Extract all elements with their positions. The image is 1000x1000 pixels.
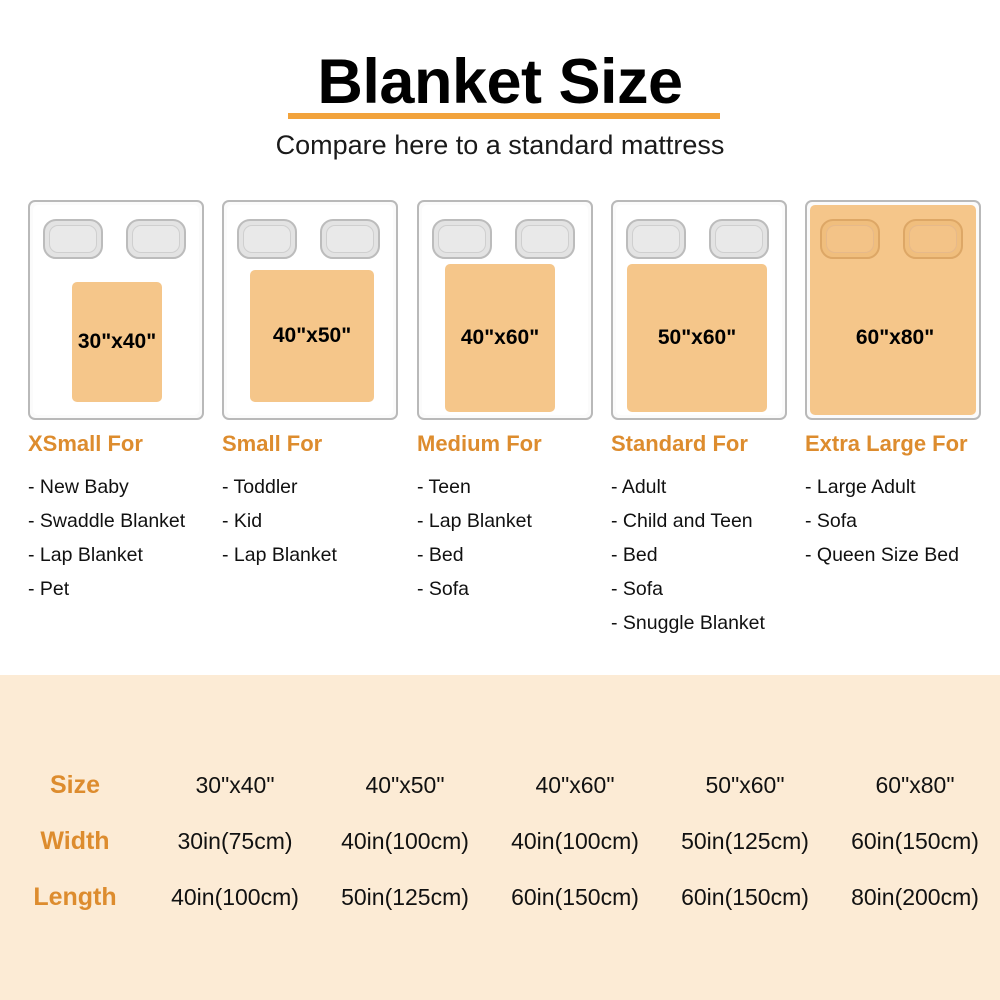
bed-diagram-standard: 50"x60"	[611, 200, 787, 422]
blanket-size-label: 50"x60"	[658, 326, 736, 350]
blanket-rect: 40"x60"	[445, 264, 555, 412]
pillow-left-icon	[237, 219, 297, 259]
size-table: Size 30"x40" 40"x50" 40"x60" 50"x60" 60"…	[0, 757, 1000, 925]
table-cell: 50"x60"	[660, 757, 830, 813]
category-item: - Sofa	[417, 572, 617, 606]
category-item: - Snuggle Blanket	[611, 606, 811, 640]
row-label-width: Width	[0, 813, 150, 869]
category-item: - New Baby	[28, 470, 228, 504]
pillow-left-icon	[820, 219, 880, 259]
category-column-extra-large: Extra Large For - Large Adult - Sofa - Q…	[805, 430, 1000, 572]
blanket-size-label: 40"x50"	[273, 324, 351, 348]
blanket-rect: 60"x80"	[807, 264, 981, 412]
table-cell: 50in(125cm)	[320, 869, 490, 925]
table-cell: 80in(200cm)	[830, 869, 1000, 925]
blanket-rect: 30"x40"	[72, 282, 162, 402]
blanket-size-infographic: Blanket Size Compare here to a standard …	[0, 0, 1000, 1000]
category-item: - Bed	[417, 538, 617, 572]
bed-diagrams-row: 30"x40" 40"x50" 40"x60"	[0, 200, 1000, 422]
category-item: - Lap Blanket	[417, 504, 617, 538]
pillow-right-icon	[126, 219, 186, 259]
category-heading: Extra Large For	[805, 430, 1000, 458]
category-item: - Adult	[611, 470, 811, 504]
mattress-outline: 50"x60"	[611, 200, 787, 420]
pillow-left-icon	[43, 219, 103, 259]
category-column-small: Small For - Toddler - Kid - Lap Blanket	[222, 430, 422, 572]
category-item: - Swaddle Blanket	[28, 504, 228, 538]
table-row: Length 40in(100cm) 50in(125cm) 60in(150c…	[0, 869, 1000, 925]
title-underline	[288, 113, 720, 119]
row-label-size: Size	[0, 757, 150, 813]
row-label-length: Length	[0, 869, 150, 925]
category-heading: XSmall For	[28, 430, 228, 458]
category-item: - Bed	[611, 538, 811, 572]
header: Blanket Size Compare here to a standard …	[0, 0, 1000, 175]
table-cell: 60"x80"	[830, 757, 1000, 813]
table-cell: 40in(100cm)	[150, 869, 320, 925]
category-heading: Small For	[222, 430, 422, 458]
table-cell: 30"x40"	[150, 757, 320, 813]
table-cell: 40in(100cm)	[320, 813, 490, 869]
category-column-standard: Standard For - Adult - Child and Teen - …	[611, 430, 811, 640]
category-item: - Kid	[222, 504, 422, 538]
category-item: - Lap Blanket	[28, 538, 228, 572]
pillow-right-icon	[515, 219, 575, 259]
table-cell: 40in(100cm)	[490, 813, 660, 869]
category-item: - Toddler	[222, 470, 422, 504]
table-cell: 60in(150cm)	[490, 869, 660, 925]
table-cell: 50in(125cm)	[660, 813, 830, 869]
category-item: - Large Adult	[805, 470, 1000, 504]
category-item: - Lap Blanket	[222, 538, 422, 572]
mattress-outline: 30"x40"	[28, 200, 204, 420]
table-row: Width 30in(75cm) 40in(100cm) 40in(100cm)…	[0, 813, 1000, 869]
blanket-size-label: 60"x80"	[856, 326, 934, 350]
size-table-section: Size 30"x40" 40"x50" 40"x60" 50"x60" 60"…	[0, 675, 1000, 1000]
category-item: - Sofa	[805, 504, 1000, 538]
category-item: - Sofa	[611, 572, 811, 606]
pillow-left-icon	[432, 219, 492, 259]
category-heading: Standard For	[611, 430, 811, 458]
category-column-xsmall: XSmall For - New Baby - Swaddle Blanket …	[28, 430, 228, 606]
page-title: Blanket Size	[0, 48, 1000, 116]
table-row: Size 30"x40" 40"x50" 40"x60" 50"x60" 60"…	[0, 757, 1000, 813]
pillow-right-icon	[709, 219, 769, 259]
blanket-size-label: 40"x60"	[461, 326, 539, 350]
bed-diagram-extra-large: 60"x80"	[805, 200, 981, 422]
category-columns: XSmall For - New Baby - Swaddle Blanket …	[0, 430, 1000, 645]
blanket-size-label: 30"x40"	[78, 330, 156, 354]
category-column-medium: Medium For - Teen - Lap Blanket - Bed - …	[417, 430, 617, 606]
table-cell: 40"x50"	[320, 757, 490, 813]
pillow-right-icon	[903, 219, 963, 259]
category-heading: Medium For	[417, 430, 617, 458]
page-subtitle: Compare here to a standard mattress	[0, 128, 1000, 162]
bed-diagram-medium: 40"x60"	[417, 200, 593, 422]
table-cell: 60in(150cm)	[830, 813, 1000, 869]
blanket-rect: 40"x50"	[250, 270, 374, 402]
bed-diagram-small: 40"x50"	[222, 200, 398, 422]
pillow-right-icon	[320, 219, 380, 259]
category-item: - Queen Size Bed	[805, 538, 1000, 572]
table-cell: 30in(75cm)	[150, 813, 320, 869]
mattress-outline: 40"x50"	[222, 200, 398, 420]
category-item: - Child and Teen	[611, 504, 811, 538]
category-item: - Teen	[417, 470, 617, 504]
pillow-left-icon	[626, 219, 686, 259]
mattress-outline: 60"x80"	[805, 200, 981, 420]
bed-diagram-xsmall: 30"x40"	[28, 200, 204, 422]
table-cell: 40"x60"	[490, 757, 660, 813]
table-cell: 60in(150cm)	[660, 869, 830, 925]
blanket-rect: 50"x60"	[627, 264, 767, 412]
category-item: - Pet	[28, 572, 228, 606]
mattress-outline: 40"x60"	[417, 200, 593, 420]
